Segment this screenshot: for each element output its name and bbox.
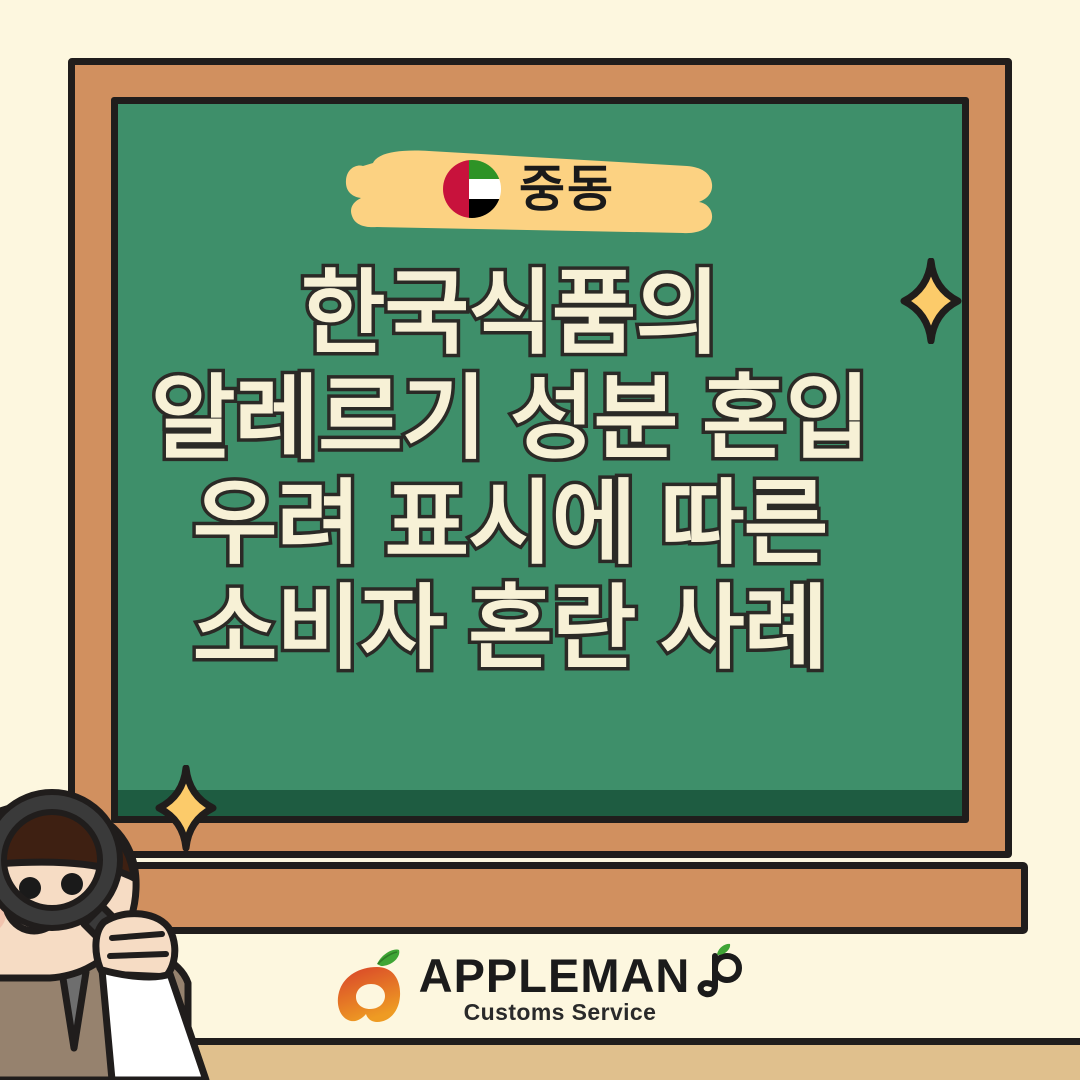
apple-a-logo-mark — [337, 944, 405, 1024]
headline-line-1: 한국식품의 — [60, 262, 960, 367]
flag-stripes — [469, 160, 501, 218]
headline-block: 한국식품의 알레르기 성분 혼입 우려 표시에 따른 소비자 혼란 사례 — [60, 262, 960, 682]
headline-line-3: 우려 표시에 따른 — [60, 472, 960, 577]
region-badge: 중동 — [333, 140, 725, 238]
flag-red-band — [443, 160, 469, 218]
region-badge-label: 중동 — [519, 164, 615, 214]
uae-flag-icon — [443, 160, 501, 218]
brand-subtitle: Customs Service — [464, 999, 657, 1026]
flag-stripe-green — [469, 160, 501, 179]
headline-line-2: 알레르기 성분 혼입 — [60, 367, 960, 472]
headline-line-4: 소비자 혼란 사례 — [60, 577, 960, 682]
brand-go-mark — [691, 942, 743, 998]
poster-canvas: 중동 한국식품의 알레르기 성분 혼입 우려 표시에 따른 소비자 혼란 사례 — [0, 0, 1080, 1080]
brand-name: APPLEMAN — [419, 953, 691, 998]
flag-stripe-black — [469, 199, 501, 218]
detective-character — [0, 778, 284, 1080]
brand-wordmark: APPLEMAN Customs Service — [419, 942, 744, 1026]
sparkle-icon — [900, 258, 962, 344]
flag-stripe-white — [469, 179, 501, 198]
